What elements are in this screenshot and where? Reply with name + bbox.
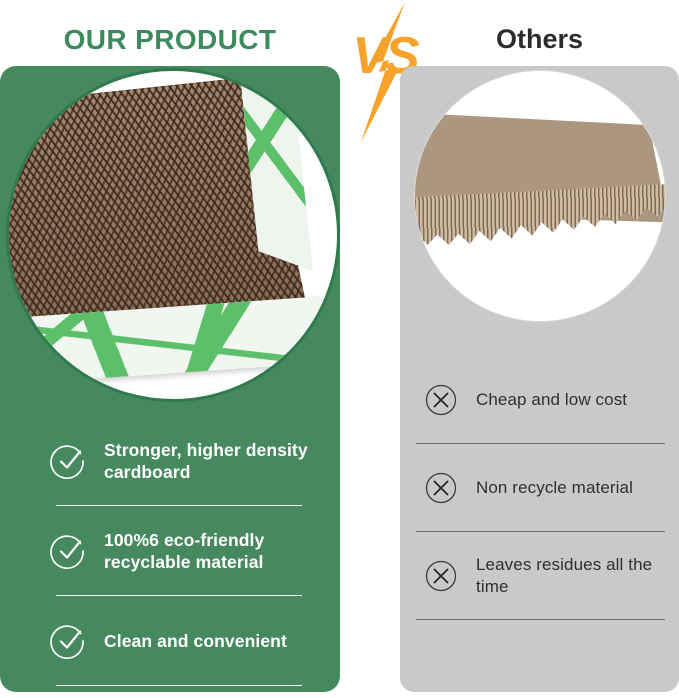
others-title: Others [400,24,679,55]
comparison-infographic: OUR PRODUCT Others VS Stronger, higher d… [0,0,679,698]
list-item-label: Non recycle material [476,477,633,499]
list-item-label: Clean and convenient [104,630,287,652]
list-item-label: Leaves residues all the time [476,554,665,598]
list-item: Leaves residues all the time [400,532,679,620]
list-item-label: 100%6 eco-friendly recyclable material [104,529,318,574]
our-product-title: OUR PRODUCT [0,24,340,56]
others-feature-list: Cheap and low cost Non recycle material [400,356,679,620]
divider [56,685,302,686]
list-item: Stronger, higher density cardboard [0,416,340,506]
x-circle-icon [422,557,460,595]
divider [416,619,665,620]
list-item: 100%6 eco-friendly recyclable material [0,506,340,596]
competitor-cardboard-illustration [414,94,666,287]
list-item-label: Cheap and low cost [476,389,627,411]
list-item-label: Stronger, higher density cardboard [104,439,318,484]
others-product-photo [414,70,666,322]
list-item: Cheap and low cost [400,356,679,444]
product-cardboard-illustration [6,73,306,336]
list-item: Clean and convenient [0,596,340,686]
check-circle-icon [50,532,88,570]
check-circle-icon [50,442,88,480]
check-circle-icon [50,622,88,660]
our-product-photo [6,68,340,402]
x-circle-icon [422,469,460,507]
x-circle-icon [422,381,460,419]
our-product-feature-list: Stronger, higher density cardboard 100%6… [0,416,340,686]
list-item: Non recycle material [400,444,679,532]
